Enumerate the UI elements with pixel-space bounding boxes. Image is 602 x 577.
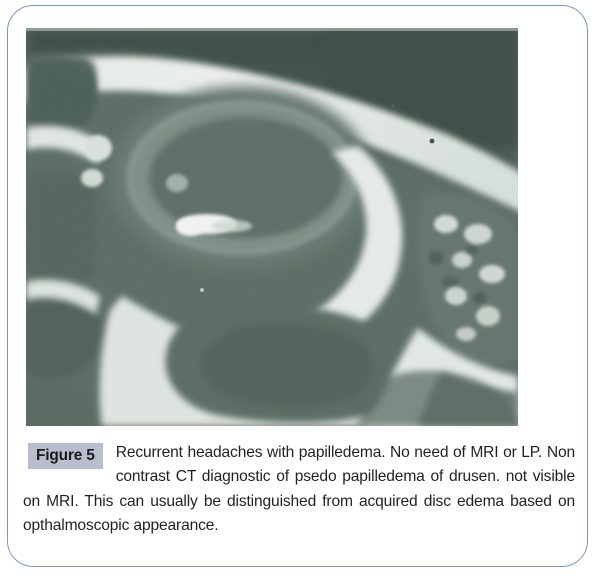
figure-card: Figure 5 Recurrent headaches with papill…	[7, 5, 588, 567]
figure-caption-block: Figure 5 Recurrent headaches with papill…	[23, 439, 575, 539]
figure-number-badge: Figure 5	[28, 443, 103, 469]
figure-caption-text: Recurrent headaches with papilledema. No…	[23, 439, 575, 539]
ct-scan-orbit-axial-image	[26, 28, 518, 426]
ct-scan-graphic	[26, 28, 518, 426]
